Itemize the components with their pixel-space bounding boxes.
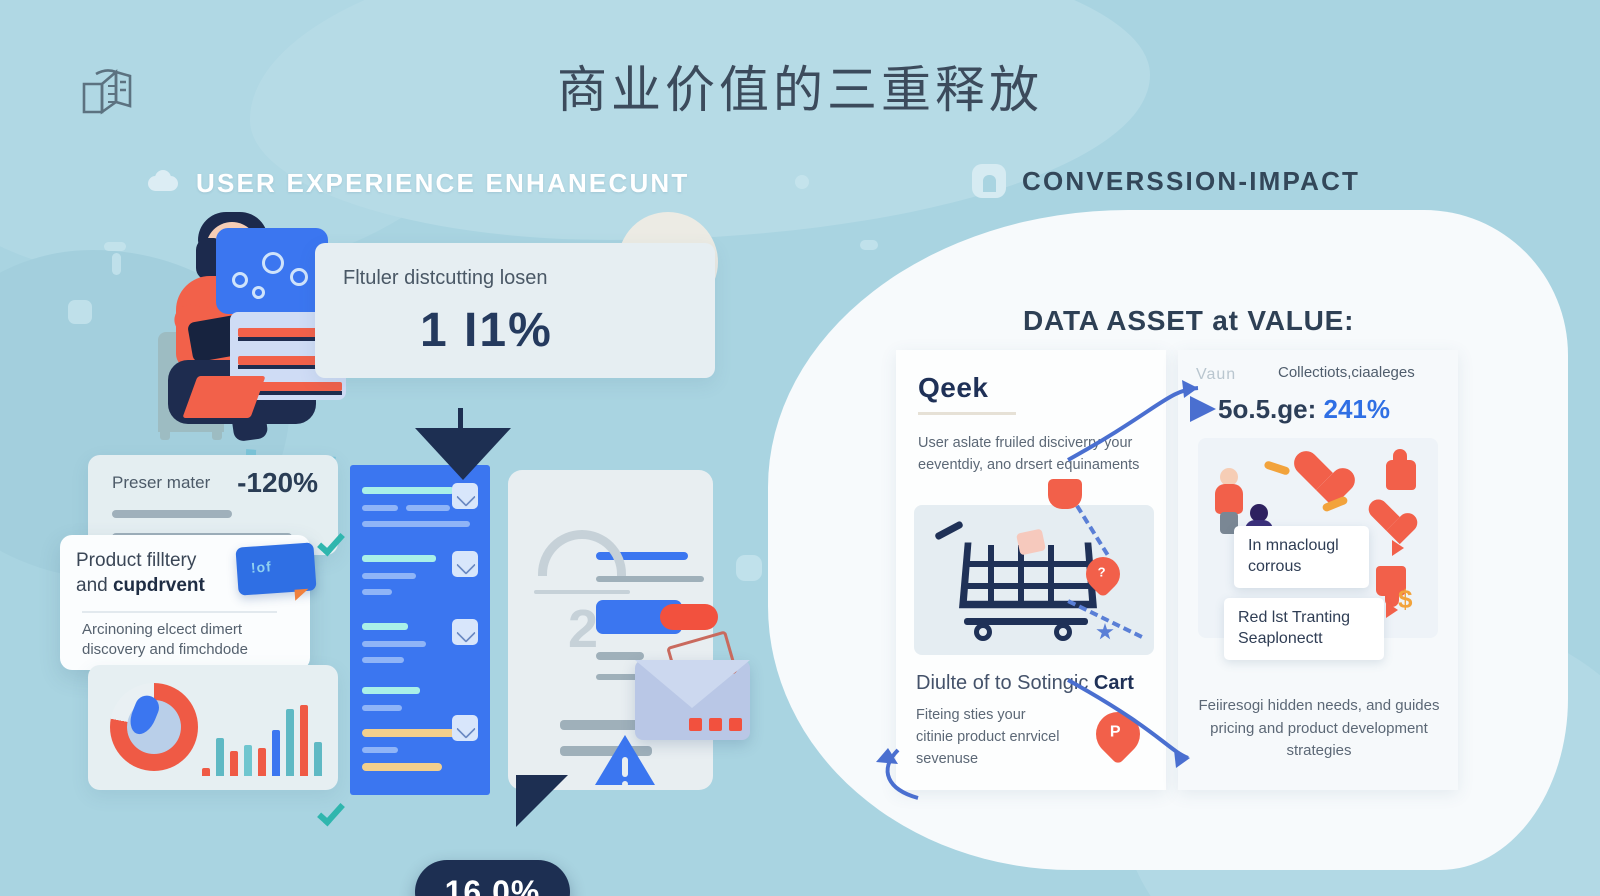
infographic-canvas: 商业价值的三重释放 USER EXPERIENCE ENHANECUNT CON…: [0, 0, 1600, 896]
envelope-dot: [729, 718, 742, 731]
stat-value: 241%: [1323, 394, 1390, 424]
thumbs-up-icon: [1386, 460, 1416, 490]
down-arrow-icon: [415, 428, 511, 480]
node-icon: [262, 252, 284, 274]
left-composition: Fltuler distcutting losen 1 I1% Preser m…: [60, 200, 740, 820]
spark-shape: [1263, 460, 1290, 476]
cart-illustration: ?: [914, 505, 1154, 655]
donut-chart-icon: [110, 683, 198, 771]
arrow-head-icon: [1386, 602, 1398, 618]
star-icon: [1096, 623, 1114, 641]
check-box-icon: [452, 483, 478, 509]
heart-icon: [1369, 500, 1406, 534]
cart-title-bold: Cart: [1094, 672, 1134, 694]
section-label: CONVERSSION-IMPACT: [1022, 166, 1360, 197]
warning-bang: [622, 757, 628, 777]
envelope-icon: [635, 660, 750, 740]
node-icon: [252, 286, 265, 299]
arrow-head-icon: [1190, 396, 1216, 422]
card-qeek-title: Qeek: [918, 372, 989, 404]
dollar-icon: $: [1398, 584, 1412, 615]
divider: [82, 611, 277, 613]
white-label-1: In mnaclougl corrous: [1234, 526, 1369, 588]
right-composition: DATA ASSET at VALUE: Qeek User aslate fr…: [768, 210, 1568, 870]
feature-card-title: Product filltery and cupdrvent: [76, 549, 226, 598]
hair-shape: [196, 238, 218, 280]
title-underline: [918, 412, 1016, 415]
white-label-2: Red lst Tranting Seaplonectt: [1224, 598, 1384, 660]
placeholder-bar: [112, 510, 232, 518]
map-pin-icon: P: [1087, 703, 1149, 765]
card-value-toplabel: Collectiots,ciaaleges: [1278, 364, 1415, 381]
background-fleck: [795, 175, 809, 189]
feature-title-bold: cupdrvent: [113, 575, 205, 596]
stat-card-value: 1 I1%: [420, 303, 553, 358]
node-icon: [232, 272, 248, 288]
envelope-dot: [709, 718, 722, 731]
check-box-icon: [452, 619, 478, 645]
card-qeek[interactable]: Qeek User aslate fruiled disciverry your…: [896, 350, 1166, 790]
page-title: 商业价值的三重释放: [0, 50, 1600, 122]
check-box-icon: [452, 551, 478, 577]
envelope-dot: [689, 718, 702, 731]
card-value[interactable]: Vaun Collectiots,ciaaleges 5o.5.ge: 241%: [1178, 350, 1458, 790]
numeral-shape: 2: [568, 598, 602, 654]
warning-dot: [622, 781, 628, 787]
section-header-conversion-impact: CONVERSSION-IMPACT: [972, 164, 1360, 198]
feature-card[interactable]: Product filltery and cupdrvent !of Arcin…: [60, 535, 310, 670]
section-header-user-experience: USER EXPERIENCE ENHANECUNT: [146, 166, 690, 200]
feature-card-body: Arcinoning elcect dimert discovery and f…: [82, 620, 297, 661]
arrow-head-icon: [1392, 540, 1404, 556]
heart-icon: [1294, 452, 1340, 494]
award-icon: [1048, 479, 1082, 509]
speech-bubble-icon: [216, 228, 328, 314]
rounded-square-icon: [972, 164, 1006, 198]
card-value-body: Feiiresogi hidden needs, and guides pric…: [1188, 695, 1450, 763]
list-panel: [350, 465, 490, 795]
stat-card-label: Fltuler distcutting losen: [343, 267, 548, 290]
arc-shape: [538, 530, 626, 576]
card-value-vlabel: Vaun: [1196, 366, 1236, 384]
chart-card: [88, 665, 338, 790]
stat-card: Fltuler distcutting losen 1 I1%: [315, 243, 715, 378]
cloud-icon: [146, 166, 180, 200]
badge-chip-icon: !of: [235, 542, 316, 595]
pill-badge: 16 0%: [415, 860, 570, 896]
card-qeek-body: User aslate fruiled disciverry your eeve…: [918, 432, 1143, 477]
cart-handle: [934, 520, 964, 540]
check-box-icon: [452, 715, 478, 741]
cart-card-title: Diulte of to Sotingic Cart: [916, 672, 1134, 695]
bar-chart-icon: [202, 694, 322, 776]
pennant-icon: [516, 775, 568, 827]
node-icon: [290, 268, 308, 286]
chip-tag: !of: [250, 558, 272, 575]
cart-title-prefix: Diulte of to Sotingic: [916, 672, 1094, 694]
section-label: USER EXPERIENCE ENHANECUNT: [196, 168, 690, 199]
cart-card-body: Fiteing sties your citinie product enrvi…: [916, 705, 1061, 770]
metric-card-value: -120%: [237, 467, 318, 499]
check-icon: [317, 798, 345, 827]
card-value-stat: 5o.5.ge: 241%: [1218, 394, 1390, 425]
feature-title-prefix: and: [76, 575, 113, 596]
data-asset-heading: DATA ASSET at VALUE:: [1023, 305, 1354, 337]
envelope-flap: [635, 660, 750, 708]
stat-prefix: 5o.5.ge:: [1218, 394, 1323, 424]
play-pill-icon: [660, 604, 718, 630]
feature-title-line1: Product filltery: [76, 550, 196, 571]
metric-card-label: Preser mater: [112, 473, 210, 493]
